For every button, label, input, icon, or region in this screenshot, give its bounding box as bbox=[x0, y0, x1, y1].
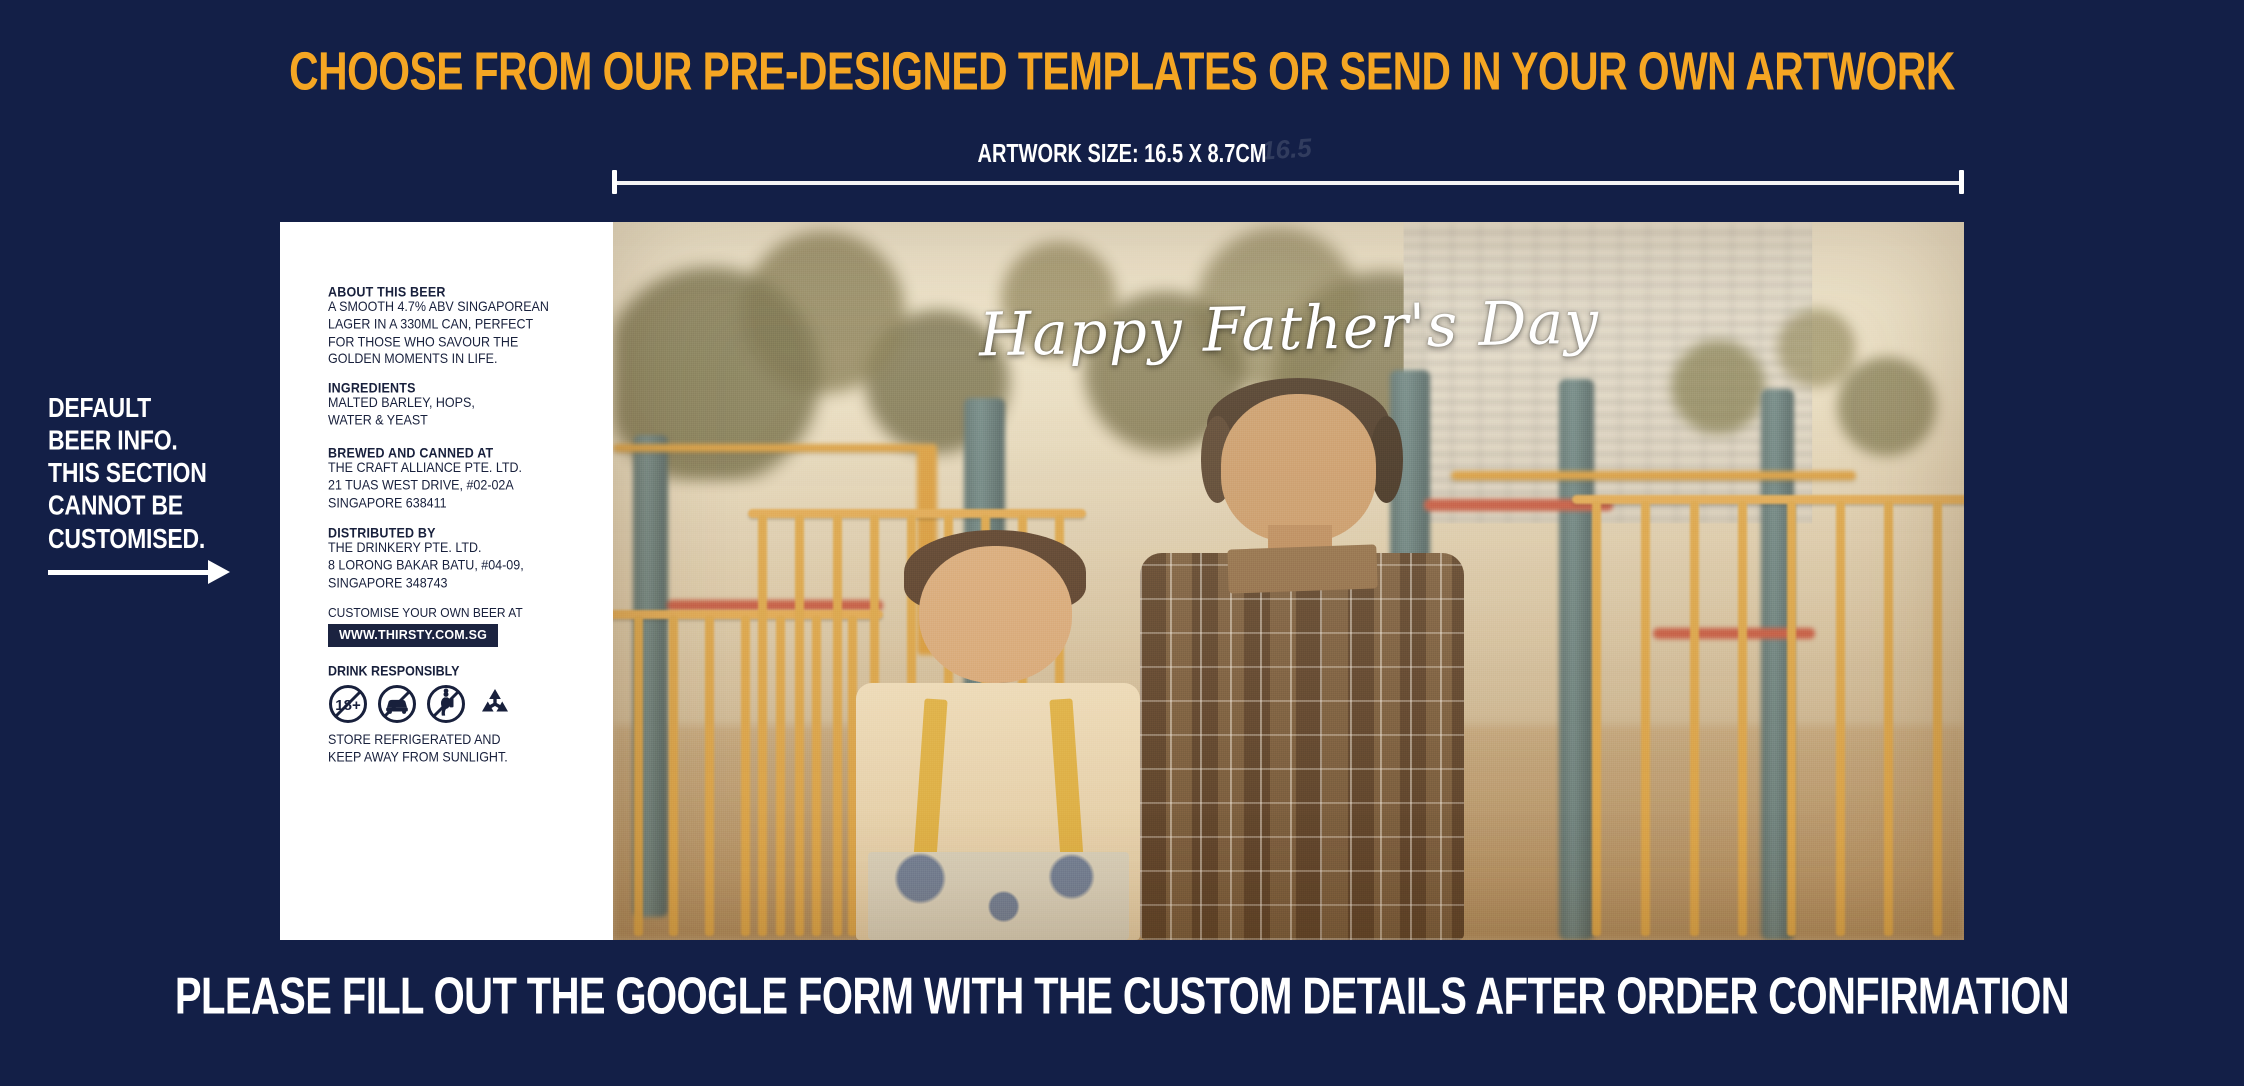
brewed-heading: BREWED AND CANNED AT bbox=[328, 445, 595, 461]
ruler-cap-right bbox=[1959, 170, 1964, 194]
about-body: A SMOOTH 4.7% ABV SINGAPOREAN LAGER IN A… bbox=[328, 299, 595, 368]
no-pregnant-drinking-icon bbox=[426, 684, 466, 724]
arrow-shaft bbox=[48, 570, 218, 575]
playground-bar-yellow bbox=[1451, 471, 1856, 480]
father-figure bbox=[1133, 394, 1471, 940]
brewed-block: BREWED AND CANNED AT THE CRAFT ALLIANCE … bbox=[328, 445, 595, 507]
custom-artwork-photo[interactable]: Happy Father's Day bbox=[613, 222, 1964, 940]
default-beer-info-panel: ABOUT THIS BEER A SMOOTH 4.7% ABV SINGAP… bbox=[280, 222, 613, 940]
ingredients-block: INGREDIENTS MALTED BARLEY, HOPS, WATER &… bbox=[328, 380, 595, 427]
artwork-size-caption: ARTWORK SIZE: 16.5 X 8.7CM bbox=[0, 140, 2244, 169]
recycle-icon bbox=[475, 684, 515, 724]
customise-line: CUSTOMISE YOUR OWN BEER AT bbox=[328, 605, 595, 620]
ingredients-heading: INGREDIENTS bbox=[328, 380, 595, 396]
website-url-chip[interactable]: WWW.THIRSTY.COM.SG bbox=[328, 624, 498, 647]
footer-instruction: PLEASE FILL OUT THE GOOGLE FORM WITH THE… bbox=[0, 968, 2244, 1027]
ruler-bar bbox=[612, 181, 1964, 185]
distributed-heading: DISTRIBUTED BY bbox=[328, 525, 595, 541]
no-drink-drive-icon bbox=[377, 684, 417, 724]
responsibility-icon-row: 18+ bbox=[328, 684, 595, 724]
distributed-block: DISTRIBUTED BY THE DRINKERY PTE. LTD. 8 … bbox=[328, 525, 595, 587]
child-figure bbox=[856, 538, 1140, 940]
no-under-18-icon: 18+ bbox=[328, 684, 368, 724]
page-headline: CHOOSE FROM OUR PRE-DESIGNED TEMPLATES O… bbox=[0, 42, 2244, 103]
can-label-artwork[interactable]: ABOUT THIS BEER A SMOOTH 4.7% ABV SINGAP… bbox=[280, 222, 1964, 940]
arrow-right-icon bbox=[48, 556, 248, 586]
about-heading: ABOUT THIS BEER bbox=[328, 284, 595, 300]
storage-note: STORE REFRIGERATED AND KEEP AWAY FROM SU… bbox=[328, 732, 595, 767]
about-this-beer-block: ABOUT THIS BEER A SMOOTH 4.7% ABV SINGAP… bbox=[328, 284, 595, 362]
distributed-body: THE DRINKERY PTE. LTD. 8 LORONG BAKAR BA… bbox=[328, 540, 595, 592]
poster-canvas: CHOOSE FROM OUR PRE-DESIGNED TEMPLATES O… bbox=[0, 0, 2244, 1086]
brewed-body: THE CRAFT ALLIANCE PTE. LTD. 21 TUAS WES… bbox=[328, 460, 595, 512]
artwork-width-ruler: 16.5 bbox=[612, 170, 1964, 194]
ingredients-body: MALTED BARLEY, HOPS, WATER & YEAST bbox=[328, 395, 595, 430]
playground-bar-yellow bbox=[613, 444, 937, 453]
default-beer-info-note: DEFAULT BEER INFO. THIS SECTION CANNOT B… bbox=[48, 392, 207, 555]
foreground-railing bbox=[1572, 495, 1964, 940]
drink-responsibly-heading: DRINK RESPONSIBLY bbox=[328, 663, 595, 679]
railing-top-bar bbox=[1572, 495, 1964, 504]
arrow-head bbox=[208, 560, 230, 584]
